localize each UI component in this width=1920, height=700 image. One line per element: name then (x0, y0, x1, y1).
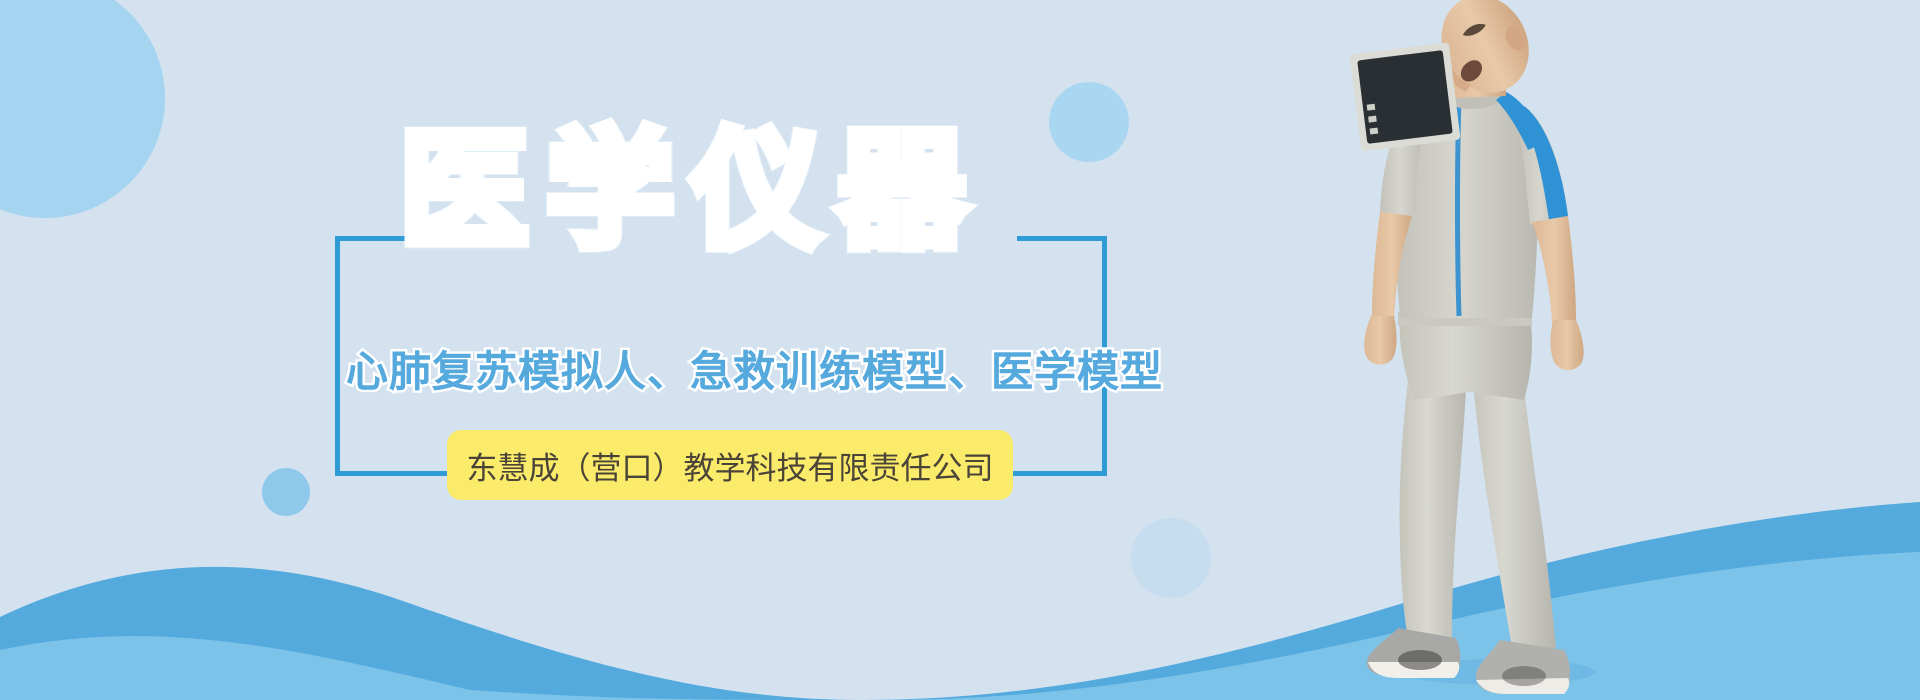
promo-banner: 医学仪器 医学仪器 心肺复苏模拟人、急救训练模型、医学模型 心肺复苏模拟人、急救… (0, 0, 1920, 700)
manikin-control-monitor (1349, 42, 1460, 151)
manikin-hand-left (1364, 316, 1396, 365)
decor-circle-faint (1131, 518, 1211, 598)
background-decor (0, 0, 1920, 700)
manikin-hand-right (1551, 320, 1584, 370)
decor-circle-small (262, 468, 310, 516)
decor-circle-medium (1049, 82, 1129, 162)
manikin-pants (1400, 316, 1532, 400)
